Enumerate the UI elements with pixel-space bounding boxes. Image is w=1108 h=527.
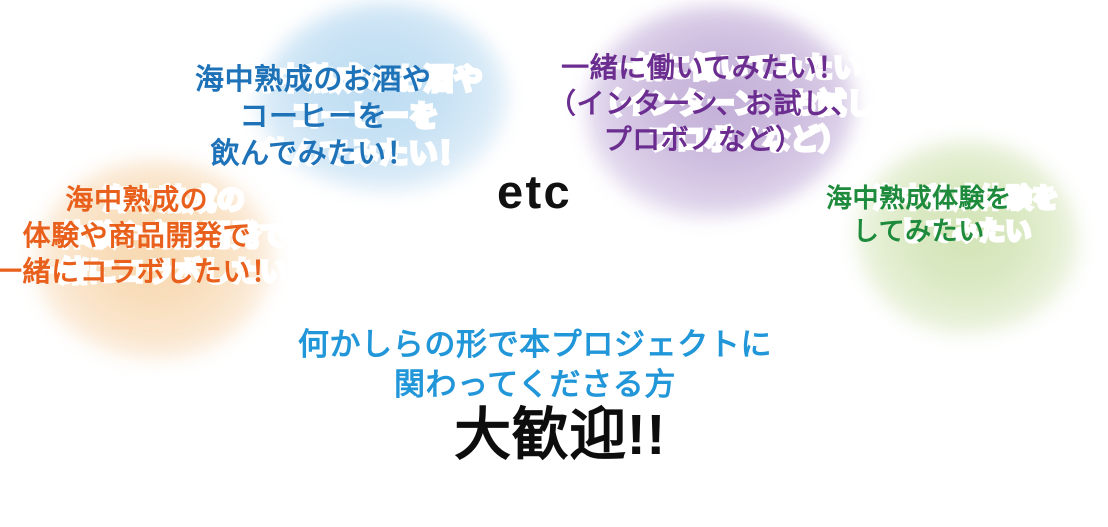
poster-canvas: 海中熟成のお酒や コーヒーを 飲んでみたい！ 海中熟成のお酒や コーヒーを 飲ん… [0, 0, 1108, 527]
etc-label: etc [497, 162, 572, 222]
closing-statement: 何かしらの形で本プロジェクトに 関わってくださる方 [265, 325, 805, 406]
message-orange-collab: 海中熟成の 体験や商品開発で 一緒にコラボしたい！ 海中熟成の 体験や商品開発で… [0, 182, 354, 289]
message-green-experience: 海中熟成体験を してみたい 海中熟成体験を してみたい [826, 182, 1106, 249]
welcome-headline: 大歓迎!! [400, 404, 720, 467]
message-green-experience-text: 海中熟成体験を してみたい [826, 182, 1012, 249]
message-orange-collab-text: 海中熟成の 体験や商品開発で 一緒にコラボしたい！ [0, 182, 280, 289]
message-purple-work-text: 一緒に働いてみたい！ （インターン、お試し、 プロボノなど） [548, 50, 859, 157]
message-purple-work: 一緒に働いてみたい！ （インターン、お試し、 プロボノなど） 一緒に働いてみたい… [548, 50, 948, 157]
message-blue-drink: 海中熟成のお酒や コーヒーを 飲んでみたい！ 海中熟成のお酒や コーヒーを 飲ん… [195, 62, 535, 173]
message-blue-drink-text: 海中熟成のお酒や コーヒーを 飲んでみたい！ [195, 62, 432, 173]
